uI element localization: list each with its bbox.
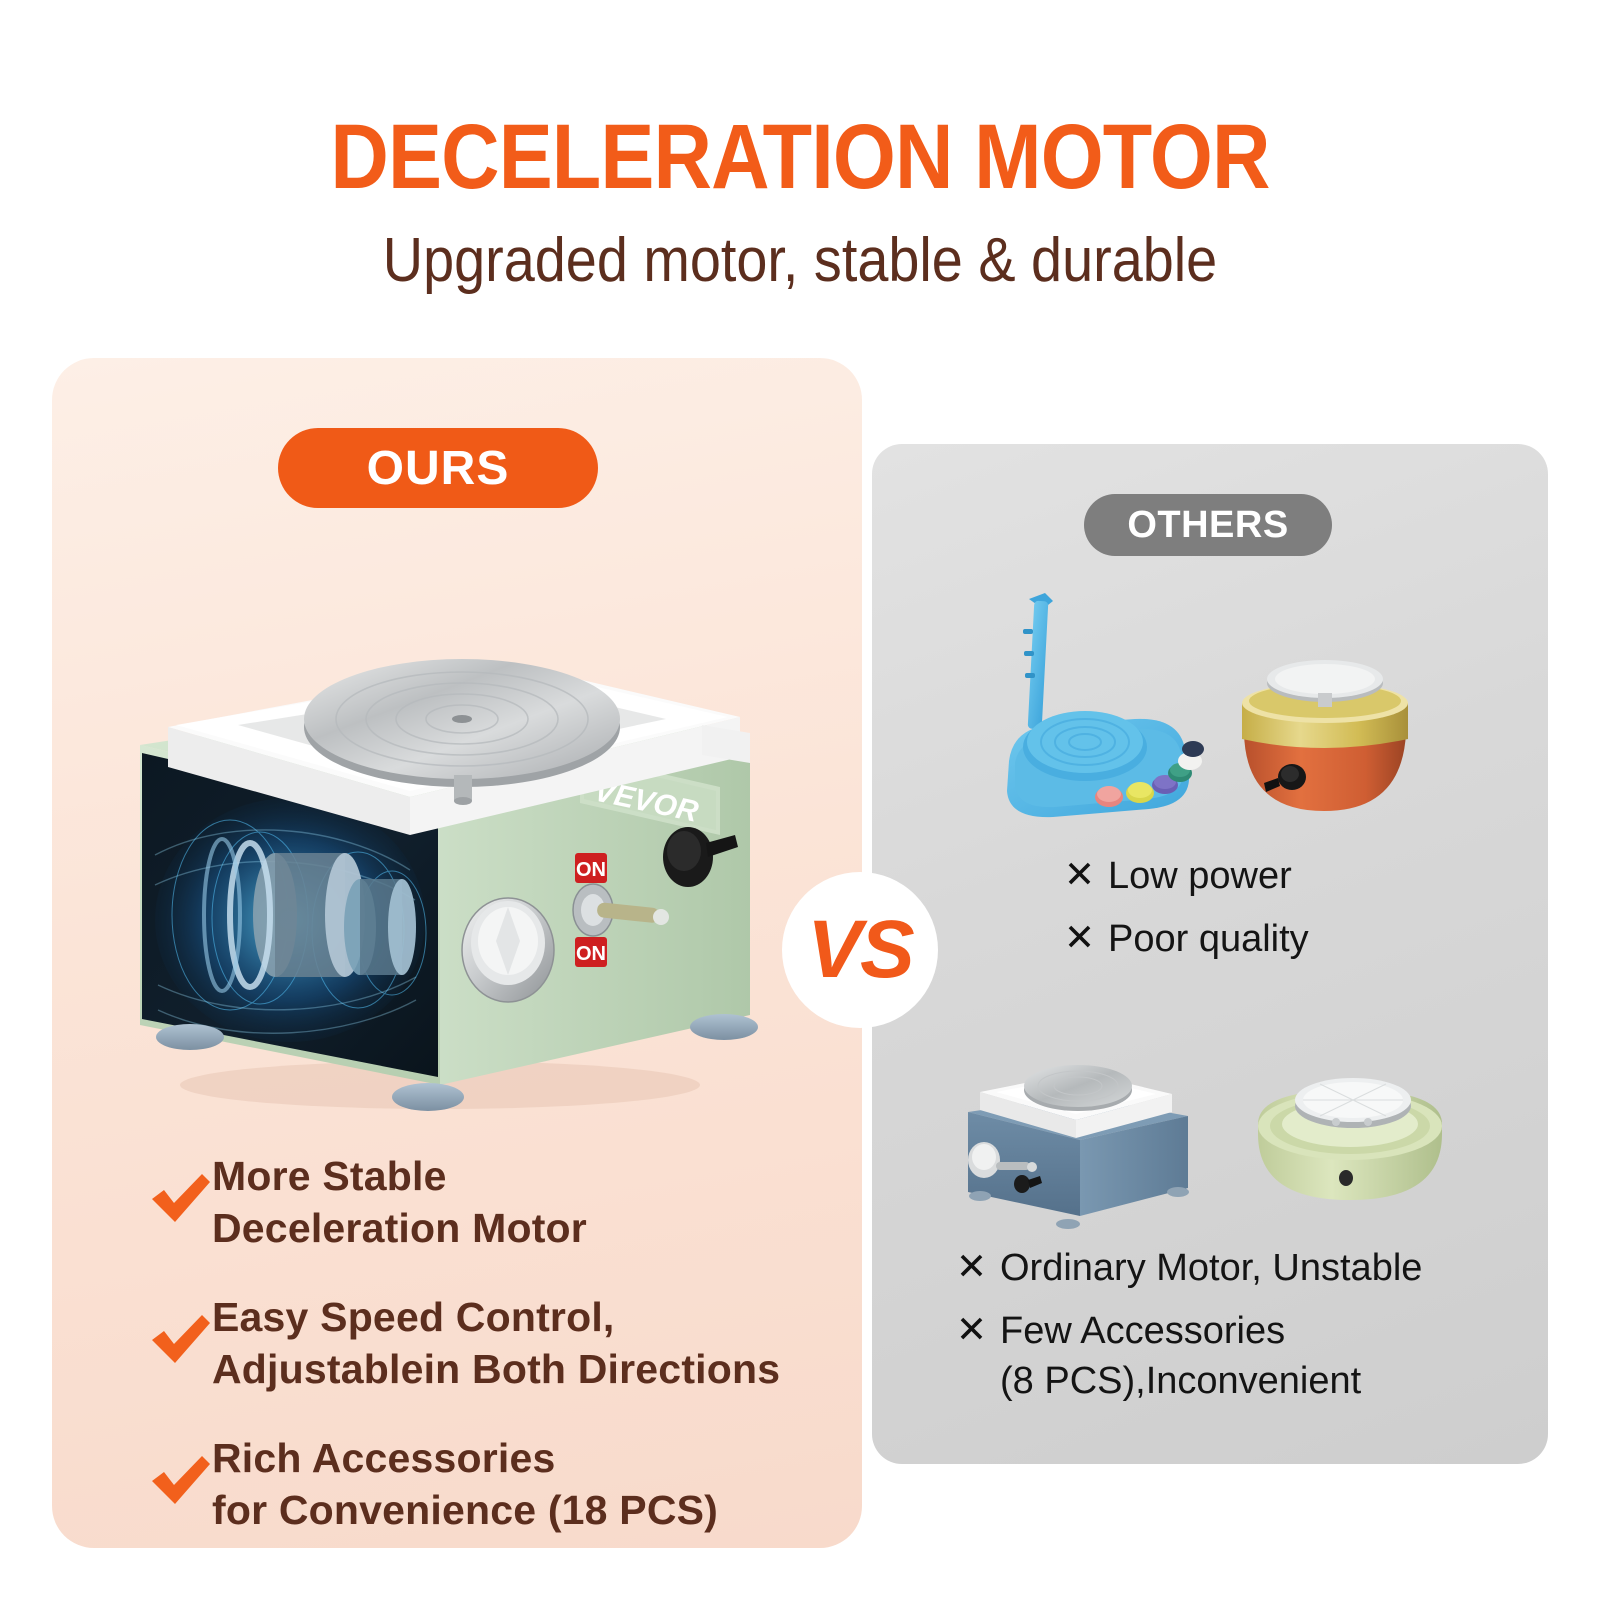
competitor-product-blue-toy-wheel [985, 585, 1225, 855]
list-item-text: Few Accessories (8 PCS),Inconvenient [1000, 1307, 1361, 1406]
speed-knob [462, 898, 554, 1002]
list-item-label: Low power [1108, 852, 1292, 901]
svg-text:ON: ON [576, 943, 606, 965]
list-item-text: Easy Speed Control, Adjustablein Both Di… [212, 1291, 780, 1396]
list-item: Rich Accessories for Convenience (18 PCS… [150, 1432, 830, 1537]
list-item-line1: Ordinary Motor, Unstable [1000, 1244, 1422, 1293]
list-item-text: Ordinary Motor, Unstable [1000, 1244, 1422, 1293]
svg-text:ON: ON [576, 859, 606, 881]
x-icon: ✕ [956, 1307, 1000, 1353]
list-item: ✕ Few Accessories (8 PCS),Inconvenient [956, 1307, 1476, 1406]
ours-product-image: VEVOR ON ON [110, 585, 790, 1115]
ours-badge: OURS [278, 428, 598, 508]
ours-feature-list: More Stable Deceleration Motor Easy Spee… [150, 1150, 830, 1573]
versus-label: VS [807, 903, 912, 997]
x-icon: ✕ [956, 1244, 1000, 1290]
list-item: More Stable Deceleration Motor [150, 1150, 830, 1255]
list-item-line2: Deceleration Motor [212, 1202, 587, 1254]
list-item-line1: Rich Accessories [212, 1432, 718, 1484]
others-badge: OTHERS [1084, 494, 1332, 556]
ours-badge-label: OURS [367, 441, 510, 496]
check-icon [150, 1172, 212, 1224]
competitor-product-bluegray-wheel [952, 1020, 1202, 1250]
x-icon: ✕ [1064, 915, 1108, 961]
list-item-line1: Easy Speed Control, [212, 1291, 780, 1343]
infographic-stage: DECELERATION MOTOR Upgraded motor, stabl… [0, 0, 1600, 1600]
list-item-label: Poor quality [1108, 915, 1309, 964]
list-item-line2: for Convenience (18 PCS) [212, 1484, 718, 1536]
list-item: Easy Speed Control, Adjustablein Both Di… [150, 1291, 830, 1396]
page-title: DECELERATION MOTOR [96, 105, 1504, 210]
list-item: ✕ Poor quality [1064, 915, 1534, 964]
page-subtitle: Upgraded motor, stable & durable [80, 225, 1520, 296]
list-item-text: Rich Accessories for Convenience (18 PCS… [212, 1432, 718, 1537]
list-item-line2: Adjustablein Both Directions [212, 1343, 780, 1395]
others-badge-label: OTHERS [1127, 504, 1288, 547]
competitor-product-green-wheel [1250, 1050, 1450, 1230]
check-icon [150, 1454, 212, 1506]
check-icon [150, 1313, 212, 1365]
x-icon: ✕ [1064, 852, 1108, 898]
others-feature-list-top: ✕ Low power ✕ Poor quality [1064, 852, 1534, 979]
competitor-product-orange-wheel [1230, 645, 1420, 845]
others-feature-list-bottom: ✕ Ordinary Motor, Unstable ✕ Few Accesso… [956, 1244, 1476, 1420]
list-item: ✕ Low power [1064, 852, 1534, 901]
list-item-text: More Stable Deceleration Motor [212, 1150, 587, 1255]
list-item-line1: More Stable [212, 1150, 587, 1202]
versus-badge: VS [782, 872, 938, 1028]
list-item: ✕ Ordinary Motor, Unstable [956, 1244, 1476, 1293]
list-item-line1: Few Accessories [1000, 1307, 1361, 1356]
list-item-line2: (8 PCS),Inconvenient [1000, 1357, 1361, 1406]
